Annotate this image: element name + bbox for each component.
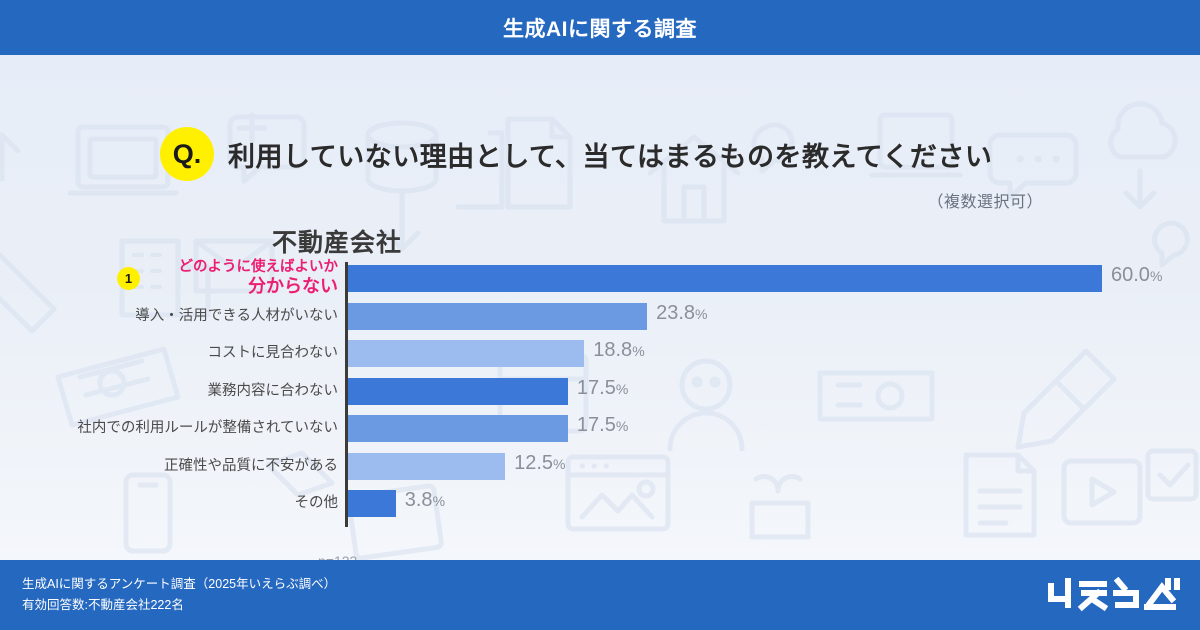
bar-value-label: 60.0% xyxy=(1111,264,1162,287)
page-header: 生成AIに関する調査 xyxy=(0,0,1200,55)
ierabu-logo xyxy=(1046,577,1180,615)
chart-title: 不動産会社 xyxy=(272,223,402,259)
bar xyxy=(348,415,568,442)
bar-value-label: 3.8% xyxy=(405,489,445,512)
page-footer: 生成AIに関するアンケート調査（2025年いえらぶ調べ） 有効回答数:不動産会社… xyxy=(0,560,1200,630)
bar-row: 1どのように使えばよいか分からない60.0% xyxy=(0,262,1200,295)
bar xyxy=(348,378,568,405)
footer-line-1: 生成AIに関するアンケート調査（2025年いえらぶ調べ） xyxy=(22,574,336,595)
bar-row: その他3.8% xyxy=(0,487,1200,520)
bar xyxy=(348,265,1102,292)
bar-value-label: 17.5% xyxy=(577,414,628,437)
bar-label: 業務内容に合わない xyxy=(0,383,338,400)
bar-label: 社内での利用ルールが整備されていない xyxy=(0,420,338,437)
bar xyxy=(348,453,505,480)
question-row: Q. 利用していない理由として、当てはまるものを教えてください xyxy=(160,127,992,181)
bar-row: 社内での利用ルールが整備されていない17.5% xyxy=(0,412,1200,445)
footer-source-text: 生成AIに関するアンケート調査（2025年いえらぶ調べ） 有効回答数:不動産会社… xyxy=(22,574,336,615)
bar-chart-rows: 1どのように使えばよいか分からない60.0%導入・活用できる人材がいない23.8… xyxy=(0,262,1200,525)
header-title: 生成AIに関する調査 xyxy=(503,13,697,43)
ierabu-logo-mark xyxy=(1046,577,1180,615)
sample-size-note: n=123 xyxy=(318,553,357,560)
bar xyxy=(348,303,647,330)
question-badge: Q. xyxy=(160,127,214,181)
bar-value-label: 17.5% xyxy=(577,377,628,400)
footer-line-2: 有効回答数:不動産会社222名 xyxy=(22,595,336,616)
content-canvas: Q. 利用していない理由として、当てはまるものを教えてください （複数選択可） … xyxy=(0,55,1200,560)
bar-value-label: 23.8% xyxy=(656,302,707,325)
bar xyxy=(348,490,396,517)
bar-label: 導入・活用できる人材がいない xyxy=(0,308,338,325)
bar-value-label: 12.5% xyxy=(514,452,565,475)
bar-label: どのように使えばよいか分からない xyxy=(0,259,338,297)
bar-label: その他 xyxy=(0,495,338,512)
bar-row: コストに見合わない18.8% xyxy=(0,337,1200,370)
bar-row: 導入・活用できる人材がいない23.8% xyxy=(0,300,1200,333)
bar-row: 業務内容に合わない17.5% xyxy=(0,375,1200,408)
bar-label: 正確性や品質に不安がある xyxy=(0,458,338,475)
question-note: （複数選択可） xyxy=(927,188,1043,212)
bar-label: コストに見合わない xyxy=(0,345,338,362)
bar-value-label: 18.8% xyxy=(593,339,644,362)
question-text: 利用していない理由として、当てはまるものを教えてください xyxy=(228,135,992,174)
bar xyxy=(348,340,584,367)
bar-row: 正確性や品質に不安がある12.5% xyxy=(0,450,1200,483)
